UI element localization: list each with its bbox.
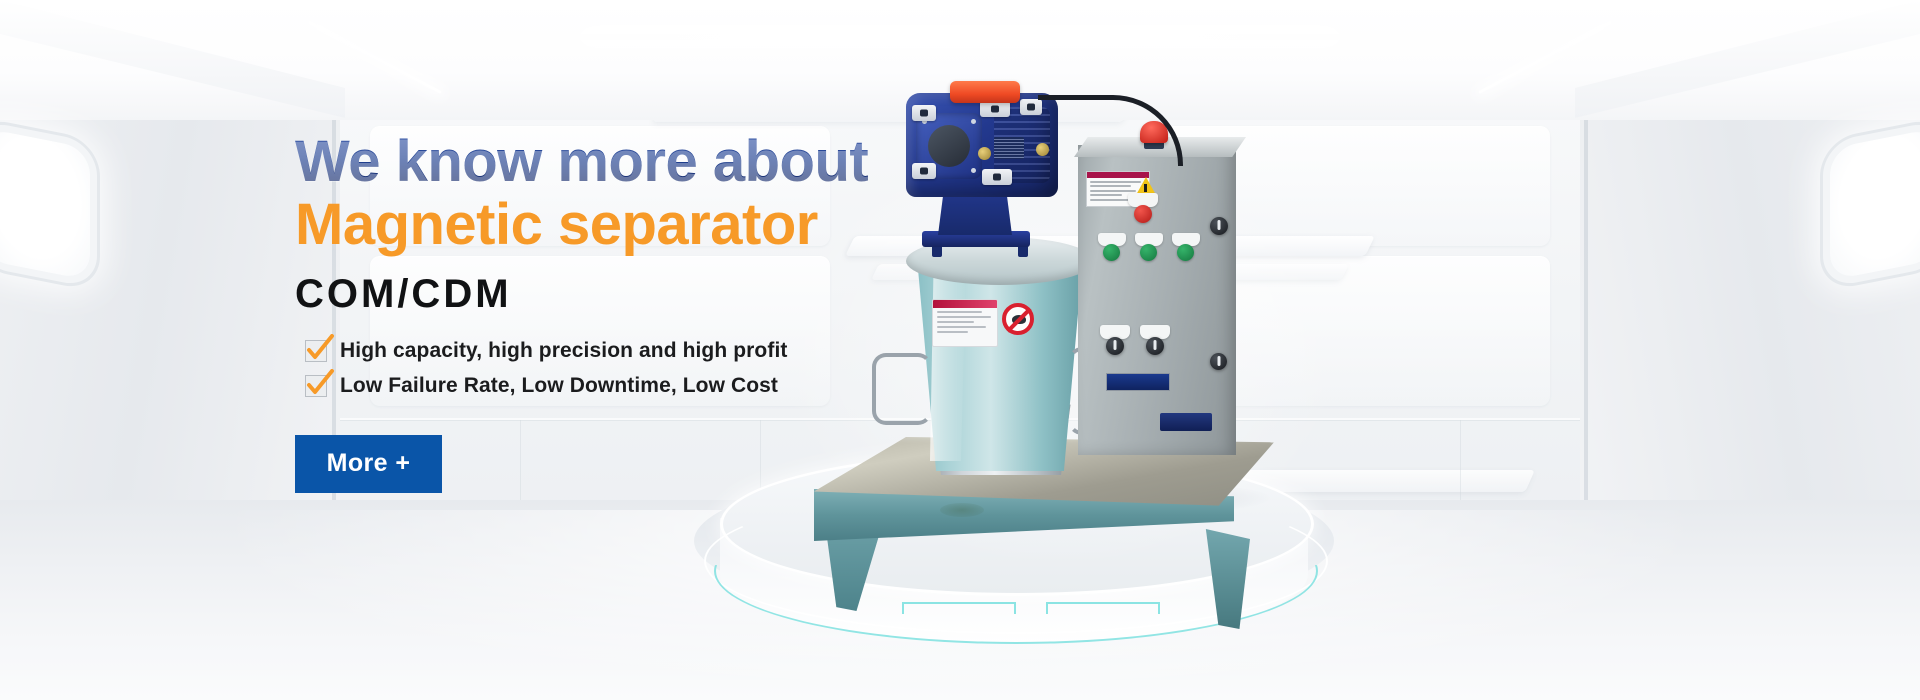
hero-banner: We know more about Magnetic separator CO… [0, 0, 1920, 700]
mounting-clip [980, 101, 1010, 117]
label-line [1090, 190, 1136, 192]
label-line [937, 331, 968, 333]
label-line [937, 321, 974, 323]
headline-primary: We know more about [295, 132, 915, 192]
bolt [971, 119, 976, 124]
oil-plug [978, 147, 991, 160]
feature-list: High capacity, high precision and high p… [305, 339, 915, 398]
more-button[interactable]: More + [295, 435, 442, 493]
wall-light-panel [0, 128, 90, 281]
stop-button-red[interactable] [1134, 205, 1152, 223]
gearbox-motor [906, 93, 1058, 197]
terminal-box-cover [950, 81, 1020, 103]
product-model: COM/CDM [295, 272, 915, 317]
label-line [937, 326, 986, 328]
pedestal-notch [902, 602, 1016, 614]
bolt [971, 168, 976, 173]
list-item: High capacity, high precision and high p… [305, 339, 915, 363]
hero-copy: We know more about Magnetic separator CO… [295, 132, 915, 493]
list-item: Low Failure Rate, Low Downtime, Low Cost [305, 374, 915, 398]
ceiling-light-streak [1478, 21, 1612, 94]
label-line [1090, 185, 1131, 187]
pedestal-notch [1046, 602, 1160, 614]
mounting-clip [912, 163, 936, 179]
power-cable [1038, 95, 1183, 166]
gearbox-output-disc [928, 125, 970, 167]
feature-text: High capacity, high precision and high p… [340, 339, 787, 363]
no-hands-prohibition-icon [1002, 303, 1034, 335]
base-stain [940, 503, 984, 517]
cabinet-display-window [1106, 373, 1170, 391]
wall-corner [1584, 86, 1588, 566]
start-button-green[interactable] [1103, 244, 1120, 261]
ceiling-light-strip [580, 34, 1340, 40]
checkbox-checked-icon [305, 340, 327, 362]
wall-light-panel [1830, 128, 1920, 281]
ceiling-light-streak [308, 21, 442, 94]
headline-secondary: Magnetic separator [295, 194, 915, 255]
selector-switch[interactable] [1146, 337, 1164, 355]
label-line [937, 316, 991, 318]
rotary-knob[interactable] [1210, 217, 1228, 235]
selector-switch[interactable] [1106, 337, 1124, 355]
cabinet-nameplate [1160, 413, 1212, 431]
start-button-green[interactable] [1140, 244, 1157, 261]
start-button-green[interactable] [1177, 244, 1194, 261]
drum-warning-label [932, 299, 998, 347]
label-header [933, 300, 997, 308]
drum-highlight [930, 265, 966, 461]
label-line [1090, 181, 1141, 183]
gearbox-data-sticker [994, 137, 1024, 159]
mounting-clip [982, 169, 1012, 185]
mounting-clip [912, 105, 936, 121]
label-line [1090, 194, 1122, 196]
checkbox-checked-icon [305, 375, 327, 397]
feature-text: Low Failure Rate, Low Downtime, Low Cost [340, 374, 778, 398]
label-line [937, 311, 982, 313]
label-line [1090, 199, 1133, 201]
rotary-knob[interactable] [1210, 353, 1227, 370]
